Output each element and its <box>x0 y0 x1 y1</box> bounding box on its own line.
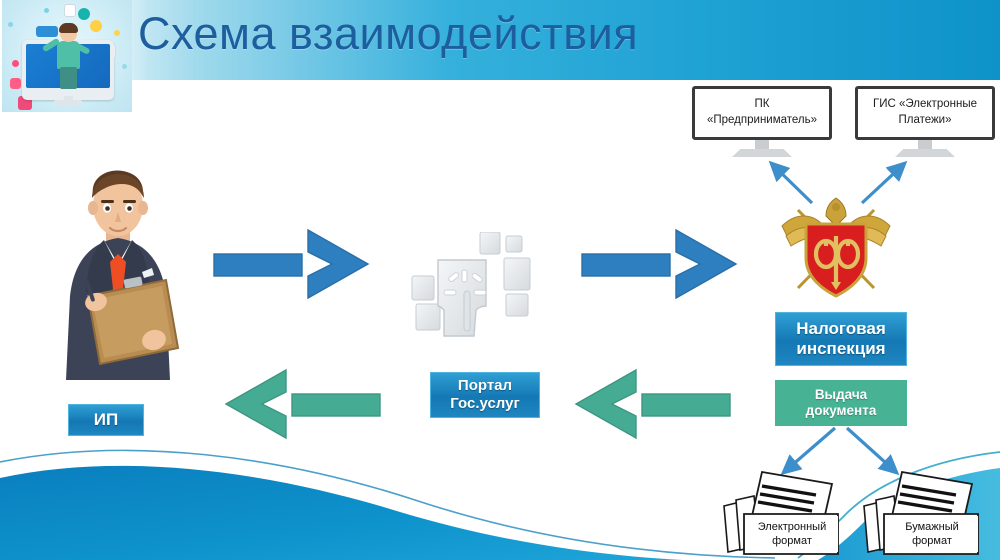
monitor-gis-label: ГИС «Электронные Платежи» <box>869 95 981 130</box>
tax-inspection-badge[interactable]: Налоговая инспекция <box>775 312 907 366</box>
electronic-format-line1: Электронный <box>758 521 827 533</box>
monitor-gis-line2: Платежи» <box>898 114 951 126</box>
tax-badge-line1: Налоговая <box>796 319 886 339</box>
paper-format-label: Бумажный формат <box>886 516 978 552</box>
hand-click-tiles-icon <box>408 232 536 340</box>
monitor-pk-neck <box>755 140 769 150</box>
document-paper-format[interactable]: Бумажный формат <box>858 466 998 556</box>
monitor-pk-predprinimatel[interactable]: ПК «Предприниматель» <box>692 86 832 164</box>
fns-tax-service-emblem <box>778 196 894 304</box>
issue-badge-line1: Выдача <box>815 387 867 403</box>
monitor-gis-elektronnye-platezhi[interactable]: ГИС «Электронные Платежи» <box>855 86 995 164</box>
electronic-format-line2: формат <box>772 535 812 547</box>
document-electronic-format[interactable]: Электронный формат <box>718 466 858 556</box>
arrow-portal-to-ip <box>222 368 382 440</box>
issue-document-badge[interactable]: Выдача документа <box>775 380 907 426</box>
arrow-tax-to-portal <box>572 368 732 440</box>
paper-format-line2: формат <box>912 535 952 547</box>
arrow-portal-to-tax <box>580 228 740 300</box>
monitor-pk-label: ПК «Предприниматель» <box>703 95 821 130</box>
monitor-pk-stand <box>732 149 792 157</box>
person-at-monitor-illustration <box>2 0 132 112</box>
portal-badge-line1: Портал <box>458 377 512 395</box>
ip-badge-label: ИП <box>94 410 118 430</box>
issue-badge-line2: документа <box>806 403 877 419</box>
arrow-ip-to-portal <box>212 228 372 300</box>
portal-badge-line2: Гос.услуг <box>450 395 519 413</box>
monitor-pk-line2: «Предприниматель» <box>707 114 817 126</box>
page-title: Схема взаимодействия <box>138 8 638 60</box>
businessman-with-clipboard <box>48 168 188 398</box>
monitor-gis-line1: ГИС «Электронные <box>873 98 977 110</box>
tax-badge-line2: инспекция <box>796 339 885 359</box>
portal-gosuslug-badge[interactable]: Портал Гос.услуг <box>430 372 540 418</box>
monitor-gis-neck <box>918 140 932 150</box>
slide-canvas: Схема взаимодействия ПК «Предприниматель… <box>0 0 1000 560</box>
monitor-pk-line1: ПК <box>755 98 770 110</box>
paper-format-line1: Бумажный <box>905 521 959 533</box>
electronic-format-label: Электронный формат <box>746 516 838 552</box>
entrepreneur-badge[interactable]: ИП <box>68 404 144 436</box>
monitor-gis-stand <box>895 149 955 157</box>
